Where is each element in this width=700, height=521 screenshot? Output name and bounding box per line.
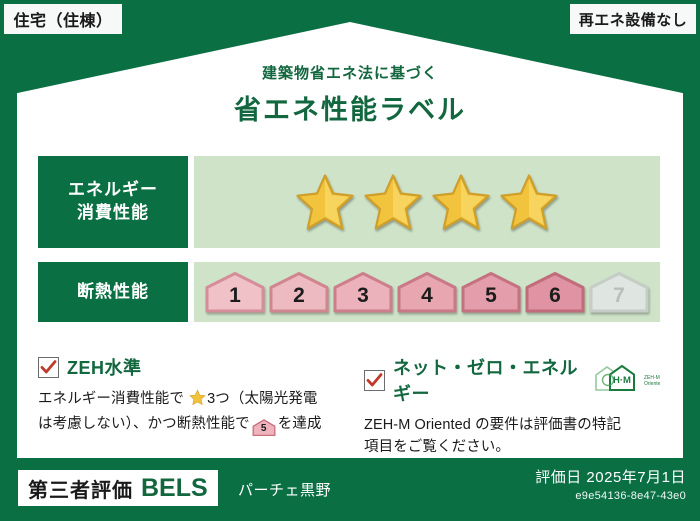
zeh-body-stars: 3つ（太陽光発電 [207, 391, 317, 407]
bels-jp-label: 第三者評価 [28, 474, 133, 503]
info-net-zero-energy-body: ZEH-M Oriented の要件は評価書の特記 項目をご覧ください。 [364, 414, 660, 459]
nze-body-line2: 項目をご覧ください。 [364, 436, 660, 458]
star-rating [194, 156, 660, 248]
info-zeh-standard-header: ZEH水準 [38, 354, 334, 380]
energy-performance-label: 住宅（住棟） 再エネ設備なし 建築物省エネ法に基づく 省エネ性能ラベル エネルギ… [0, 0, 700, 521]
bels-en-label: BELS [141, 474, 208, 503]
insulation-grade-badge: 2 [268, 271, 330, 313]
row-insulation-performance: 断熱性能 1234567 [38, 262, 660, 322]
info-net-zero-energy-header: ネット・ゼロ・エネルギー H·M ZEH-M Oriented [364, 354, 660, 406]
zeh-m-oriented-logo-icon: H·M ZEH-M Oriented [592, 364, 660, 397]
insulation-grade-value: 7 [613, 285, 625, 313]
evaluation-id: e9e54136-8e47-43e0 [535, 490, 686, 502]
tag-building-type-label: 住宅（住棟） [13, 7, 112, 31]
star-icon [498, 172, 560, 232]
row-insulation-label: 断熱性能 [38, 262, 188, 322]
insulation-grade-badge: 4 [396, 271, 458, 313]
star-icon [362, 172, 424, 232]
building-name: パーチェ黒野 [238, 479, 331, 500]
zeh-body-part2: は考慮しない）、かつ断熱性能で [38, 416, 250, 432]
insulation-grade-value: 2 [293, 285, 305, 313]
title-main: 省エネ性能ラベル [0, 88, 700, 127]
house-badge-value: 5 [252, 419, 276, 438]
bels-badge: 第三者評価 BELS [18, 470, 218, 506]
info-net-zero-energy-title: ネット・ゼロ・エネルギー [393, 354, 580, 406]
evaluation-meta: 評価日 2025年7月1日 e9e54136-8e47-43e0 [535, 466, 686, 502]
row-energy-label-line2: 消費性能 [77, 202, 149, 225]
insulation-grade-scale: 1234567 [194, 262, 660, 322]
insulation-grade-value: 3 [357, 285, 369, 313]
info-net-zero-energy: ネット・ゼロ・エネルギー H·M ZEH-M Oriented ZEH-M Or… [364, 354, 660, 459]
star-icon [430, 172, 492, 232]
info-zeh-standard: ZEH水準 エネルギー消費性能で 3つ（太陽光発電 は考慮しない）、かつ断熱性能… [38, 354, 334, 436]
tag-building-type: 住宅（住棟） [4, 4, 122, 34]
footer-bar: 第三者評価 BELS パーチェ黒野 評価日 2025年7月1日 e9e54136… [0, 458, 700, 521]
row-energy-label-line1: エネルギー [68, 179, 158, 202]
star-icon [294, 172, 356, 232]
info-zeh-standard-body: エネルギー消費性能で 3つ（太陽光発電 は考慮しない）、かつ断熱性能で 5 を達… [38, 388, 334, 436]
insulation-grade-badge: 6 [524, 271, 586, 313]
insulation-grade-value: 1 [229, 285, 241, 313]
zeh-body-part1: エネルギー消費性能で [38, 391, 184, 407]
row-insulation-label-text: 断熱性能 [77, 281, 149, 304]
insulation-grade-badge: 5 [460, 271, 522, 313]
title-subtitle: 建築物省エネ法に基づく [0, 62, 700, 83]
nze-body-line1: ZEH-M Oriented の要件は評価書の特記 [364, 414, 660, 436]
check-icon [364, 370, 385, 391]
insulation-grade-badge: 3 [332, 271, 394, 313]
page-title: 建築物省エネ法に基づく 省エネ性能ラベル [0, 62, 700, 127]
row-energy-performance: エネルギー 消費性能 [38, 156, 660, 248]
zeh-m-logo-text: H·M [613, 375, 631, 386]
house-badge-icon: 5 [252, 419, 276, 436]
tag-renewable-equipment-label: 再エネ設備なし [579, 9, 688, 30]
row-energy-label: エネルギー 消費性能 [38, 156, 188, 248]
check-icon [38, 357, 59, 378]
info-zeh-standard-title: ZEH水準 [67, 354, 142, 380]
insulation-grade-value: 4 [421, 285, 433, 313]
tag-renewable-equipment: 再エネ設備なし [570, 4, 696, 34]
insulation-grade-value: 6 [549, 285, 561, 313]
insulation-grade-badge: 7 [588, 271, 650, 313]
insulation-grade-value: 5 [485, 285, 497, 313]
evaluation-date: 評価日 2025年7月1日 [535, 466, 686, 487]
zeh-m-logo-caption-2: Oriented [644, 381, 660, 387]
insulation-grade-badge: 1 [204, 271, 266, 313]
star-icon [185, 394, 206, 410]
zeh-body-part3: を達成 [278, 416, 322, 432]
